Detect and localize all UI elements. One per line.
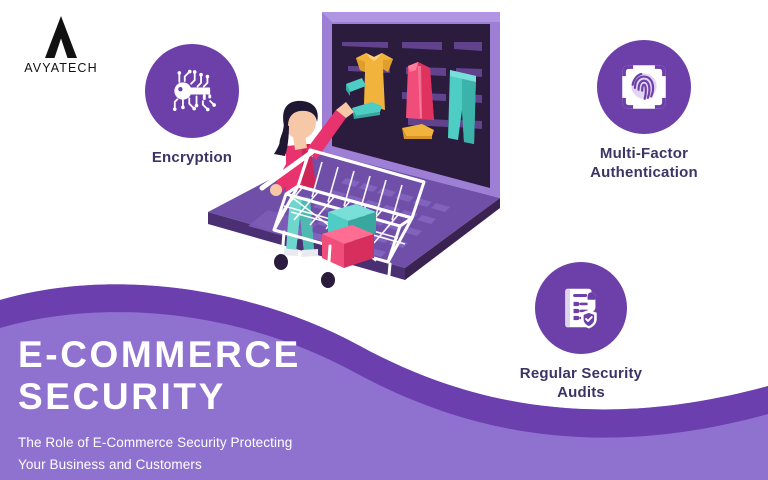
headline-block: E-COMMERCE SECURITY The Role of E-Commer… xyxy=(18,334,448,476)
infographic-canvas: AVYATECH xyxy=(0,0,768,480)
audit-checklist-shield-icon xyxy=(553,280,609,336)
product-pink-dress xyxy=(406,62,434,120)
page-subtitle: The Role of E-Commerce Security Protecti… xyxy=(18,432,448,476)
feature-multi-factor-authentication[interactable]: Multi-Factor Authentication xyxy=(556,40,732,183)
brand-name: AVYATECH xyxy=(18,61,104,75)
feature-mfa-label: Multi-Factor Authentication xyxy=(556,145,732,183)
brand-logo[interactable]: AVYATECH xyxy=(18,14,104,75)
fingerprint-scanner-icon xyxy=(615,58,673,116)
feature-audits-label: Regular Security Audits xyxy=(490,365,672,403)
isometric-laptop-online-shopping-illustration xyxy=(150,0,550,330)
page-title: E-COMMERCE SECURITY xyxy=(18,334,448,418)
mfa-badge-circle[interactable] xyxy=(597,40,691,134)
chevron-lambda-logo-icon xyxy=(34,14,88,60)
